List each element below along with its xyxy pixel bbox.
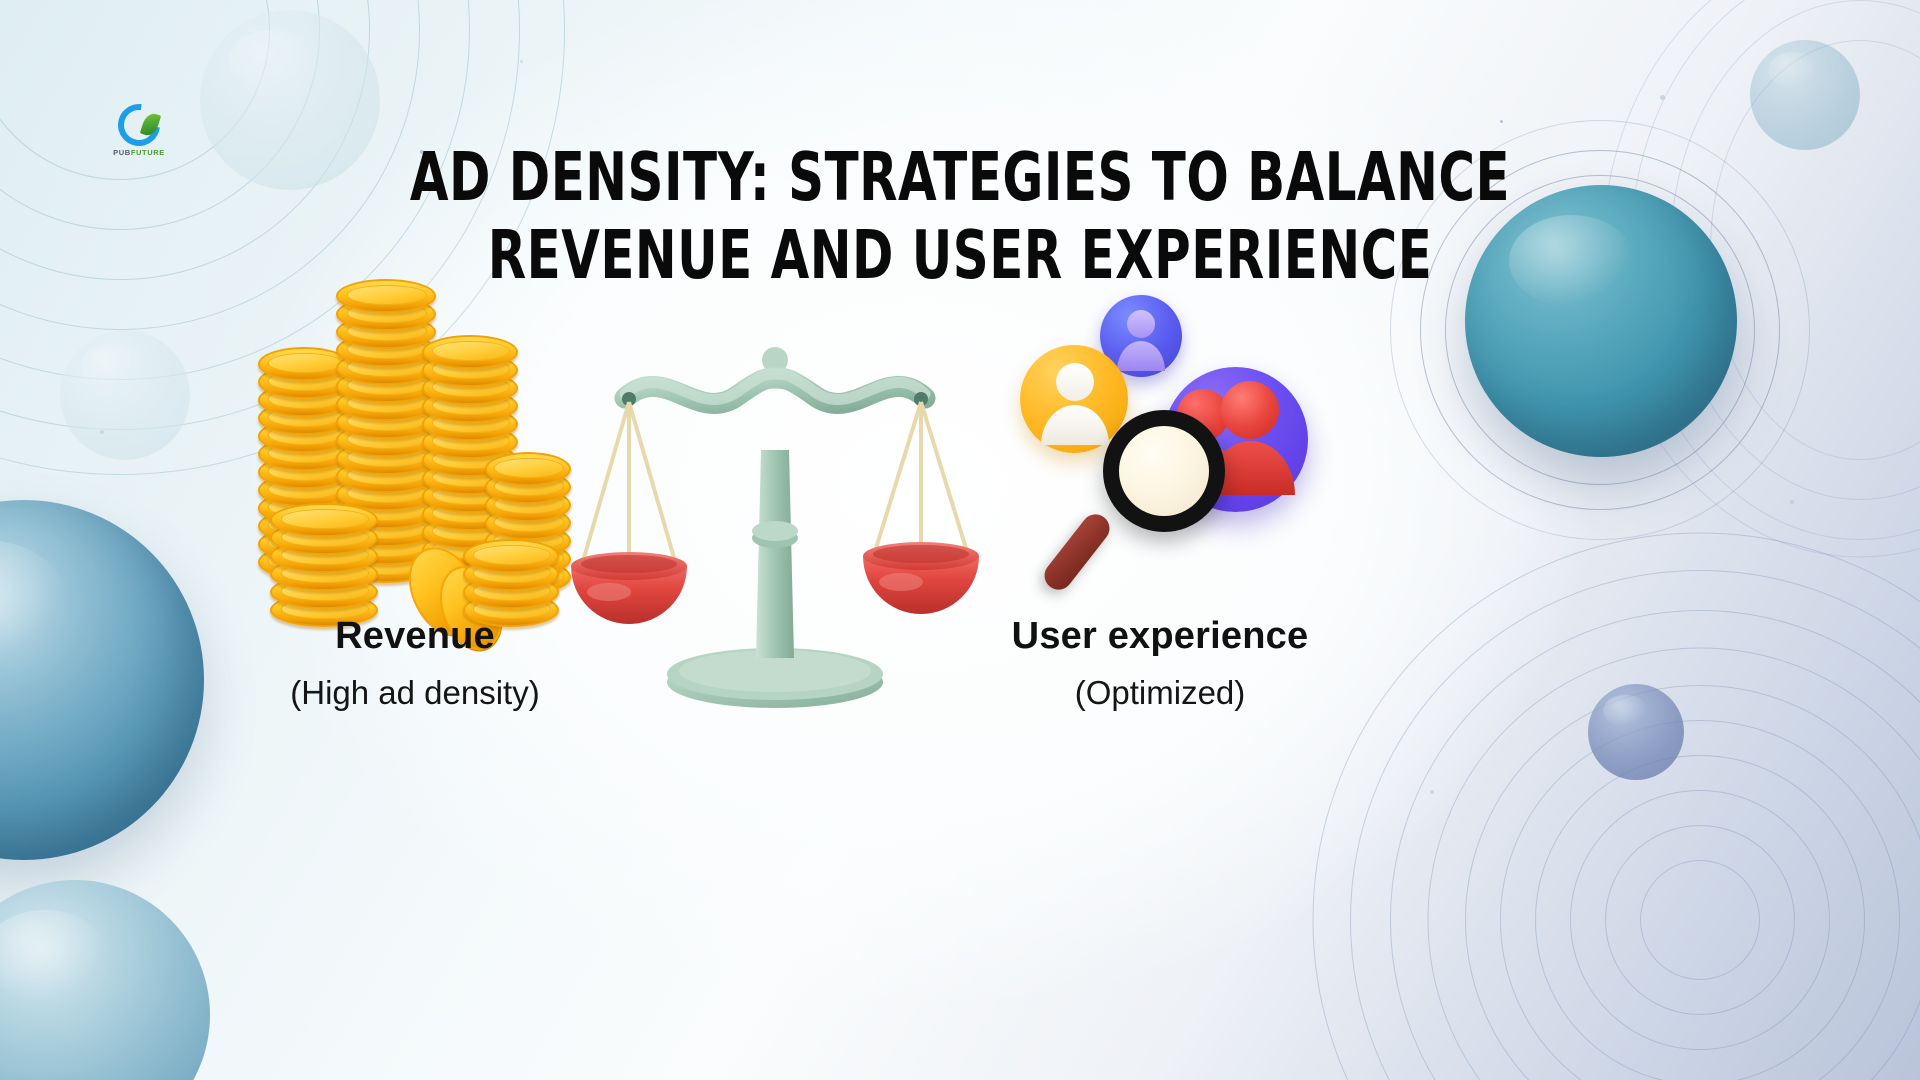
balance-scale-svg [565,300,985,720]
revenue-label-heading: Revenue [215,615,615,658]
revenue-label-sub: (High ad density) [215,674,615,712]
page-title-line-1: AD DENSITY: STRATEGIES TO BALANCE [38,140,1881,219]
page-title: AD DENSITY: STRATEGIES TO BALANCE REVENU… [38,140,1881,297]
magnifier-lens [1103,410,1225,532]
user-experience-label-sub: (Optimized) [960,674,1360,712]
user-experience-icon-group [1010,295,1330,625]
stack-of-gold-coins-icon [250,275,580,635]
magnifying-glass-icon [1055,410,1240,610]
slide-canvas: PUBFUTURE AD DENSITY: STRATEGIES TO BALA… [0,0,1920,1080]
illustration-row: Revenue (High ad density) User experienc… [0,275,1920,1035]
revenue-label: Revenue (High ad density) [215,615,615,712]
user-experience-label: User experience (Optimized) [960,615,1360,712]
user-experience-label-heading: User experience [960,615,1360,658]
decorative-sphere-small-top-right [1750,40,1860,150]
magnifier-handle [1039,509,1115,596]
balance-scale-icon [565,300,985,720]
